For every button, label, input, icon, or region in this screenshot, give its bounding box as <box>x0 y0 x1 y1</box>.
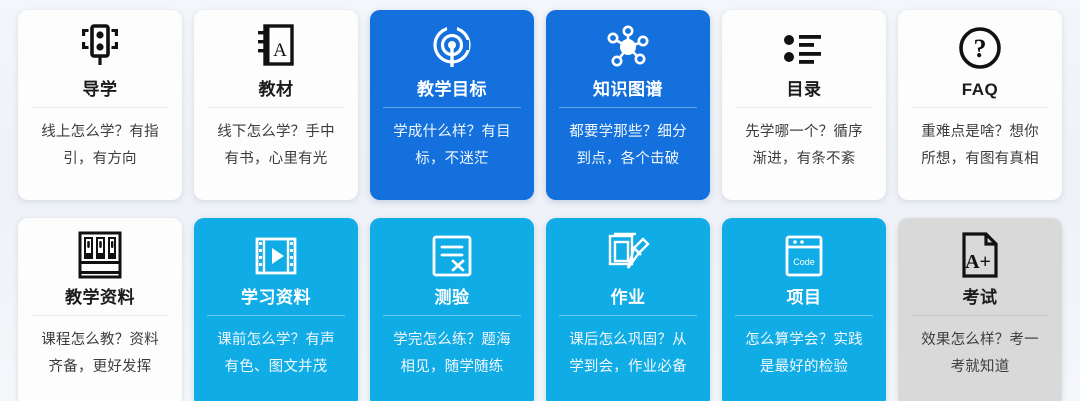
card-title: 教材 <box>259 81 294 98</box>
svg-text:A: A <box>273 40 287 61</box>
card-xiangmu[interactable]: Code 项目 怎么算学会？实践是最好的检验 <box>722 218 886 401</box>
card-description: 怎么算学会？实践是最好的检验 <box>722 316 886 381</box>
notebook-a-icon: A <box>250 10 302 72</box>
card-title: 考试 <box>963 289 998 306</box>
svg-text:?: ? <box>974 34 987 63</box>
card-description: 线上怎么学？有指引，有方向 <box>18 108 182 173</box>
card-title: 导学 <box>83 81 118 98</box>
card-description: 课前怎么学？有声有色、图文并茂 <box>194 316 358 381</box>
card-title: 学习资料 <box>241 289 311 306</box>
code-window-label: Code <box>793 257 815 267</box>
card-title: FAQ <box>962 81 998 98</box>
card-title: 教学目标 <box>417 81 487 98</box>
card-zhishitupu[interactable]: 知识图谱 都要学那些？细分到点，各个击破 <box>546 10 710 200</box>
card-zuoye[interactable]: 作业 课后怎么巩固？从学到会，作业必备 <box>546 218 710 401</box>
card-jiaoxueziliao[interactable]: 教学资料 课程怎么教？资料齐备，更好发挥 <box>18 218 182 401</box>
feature-card-grid: 导学 线上怎么学？有指引，有方向 A 教材 线下怎么学？手中有书，心里有光 <box>0 0 1080 401</box>
card-title: 目录 <box>787 81 822 98</box>
card-title: 项目 <box>787 289 822 306</box>
code-window-icon: Code <box>779 218 829 280</box>
quiz-paper-icon <box>429 218 475 280</box>
card-title: 教学资料 <box>65 289 135 306</box>
notebook-pencil-icon <box>603 218 653 280</box>
card-ceyan[interactable]: 测验 学完怎么练？题海相见，随学随练 <box>370 218 534 401</box>
card-xuexiziliao[interactable]: 学习资料 课前怎么学？有声有色、图文并茂 <box>194 218 358 401</box>
question-mark-circle-icon: ? <box>956 10 1004 72</box>
knowledge-graph-icon <box>603 10 653 72</box>
traffic-light-icon <box>74 10 126 72</box>
card-daoxue[interactable]: 导学 线上怎么学？有指引，有方向 <box>18 10 182 200</box>
card-description: 重难点是啥？想你所想，有图有真相 <box>898 108 1062 173</box>
card-title: 知识图谱 <box>593 81 663 98</box>
card-description: 课程怎么教？资料齐备，更好发挥 <box>18 316 182 381</box>
card-description: 线下怎么学？手中有书，心里有光 <box>194 108 358 173</box>
list-icon <box>778 10 830 72</box>
card-mulu[interactable]: 目录 先学哪一个？循序渐进，有条不紊 <box>722 10 886 200</box>
card-faq[interactable]: ? FAQ 重难点是啥？想你所想，有图有真相 <box>898 10 1062 200</box>
card-title: 测验 <box>435 289 470 306</box>
grade-a-plus-icon: A+ <box>958 218 1002 280</box>
card-description: 先学哪一个？循序渐进，有条不紊 <box>722 108 886 173</box>
card-description: 学成什么样？有目标，不迷茫 <box>370 108 534 173</box>
card-title: 作业 <box>611 289 646 306</box>
card-jiaocai[interactable]: A 教材 线下怎么学？手中有书，心里有光 <box>194 10 358 200</box>
card-description: 都要学那些？细分到点，各个击破 <box>546 108 710 173</box>
target-icon <box>427 10 477 72</box>
card-description: 课后怎么巩固？从学到会，作业必备 <box>546 316 710 381</box>
bookshelf-icon <box>77 218 123 280</box>
card-kaoshi[interactable]: A+ 考试 效果怎么样？考一考就知道 <box>898 218 1062 401</box>
card-description: 学完怎么练？题海相见，随学随练 <box>370 316 534 381</box>
card-description: 效果怎么样？考一考就知道 <box>898 316 1062 381</box>
card-jiaoxuemubiao[interactable]: 教学目标 学成什么样？有目标，不迷茫 <box>370 10 534 200</box>
svg-text:A+: A+ <box>965 251 991 273</box>
video-film-icon <box>252 218 300 280</box>
